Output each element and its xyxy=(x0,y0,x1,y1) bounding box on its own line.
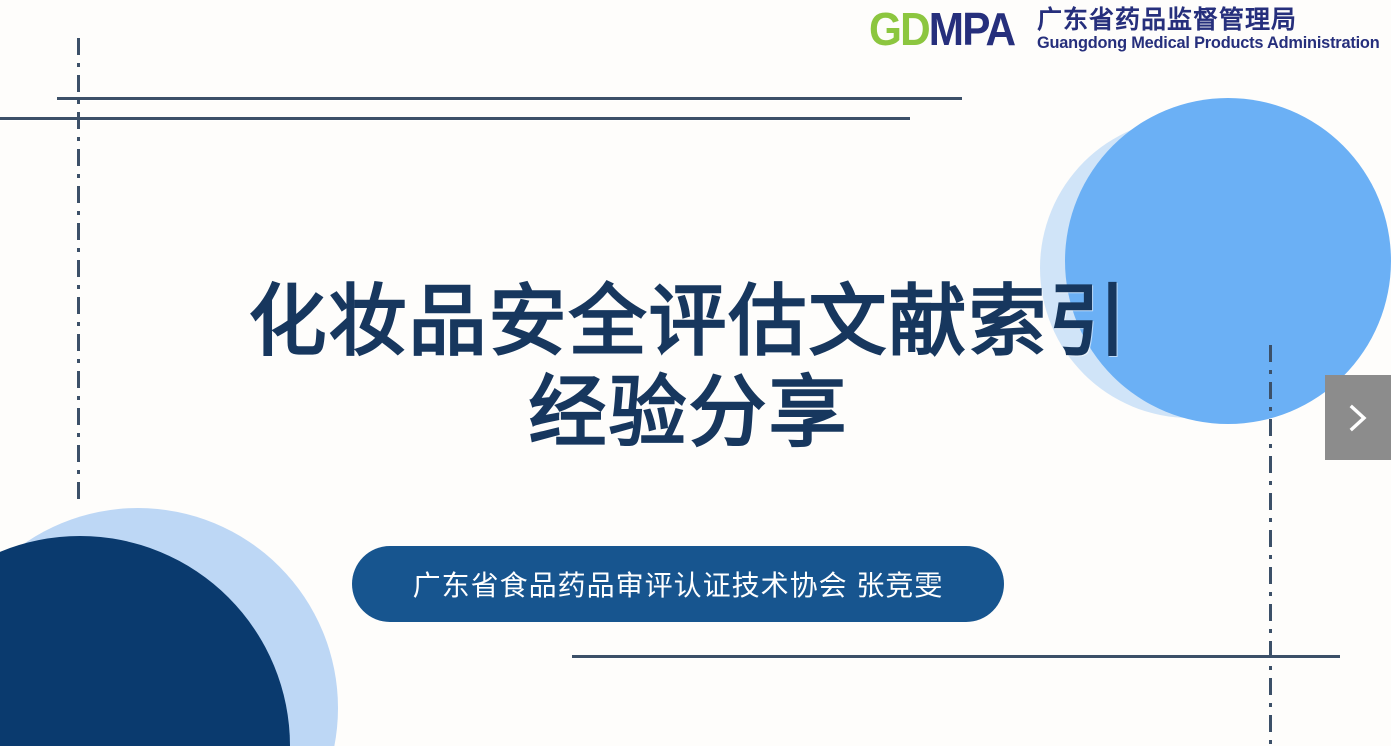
presentation-slide: GDMPA 广东省药品监督管理局 Guangdong Medical Produ… xyxy=(0,0,1391,746)
logo-wordmark: 广东省药品监督管理局 Guangdong Medical Products Ad… xyxy=(1037,6,1383,52)
next-slide-button[interactable] xyxy=(1325,375,1391,460)
gdmpa-logo-mark: GDMPA xyxy=(869,6,1014,52)
logo-text-gd: GD xyxy=(869,3,929,55)
decor-vertical-rule-right xyxy=(1269,345,1272,746)
logo-text-mpa: MPA xyxy=(929,3,1014,55)
decor-vertical-rule-left xyxy=(77,38,80,504)
logo-name-english: Guangdong Medical Products Administratio… xyxy=(1037,35,1380,52)
gdmpa-logo: GDMPA 广东省药品监督管理局 Guangdong Medical Produ… xyxy=(869,6,1383,52)
decor-horizontal-rule-top-lower xyxy=(0,117,910,120)
chevron-right-icon xyxy=(1345,401,1371,435)
decor-horizontal-rule-bottom xyxy=(572,655,1340,658)
logo-name-chinese: 广东省药品监督管理局 xyxy=(1037,8,1383,33)
presenter-text: 广东省食品药品审评认证技术协会 张竞雯 xyxy=(413,564,944,604)
decor-horizontal-rule-top-upper xyxy=(57,97,962,100)
presenter-badge: 广东省食品药品审评认证技术协会 张竞雯 xyxy=(352,546,1004,622)
